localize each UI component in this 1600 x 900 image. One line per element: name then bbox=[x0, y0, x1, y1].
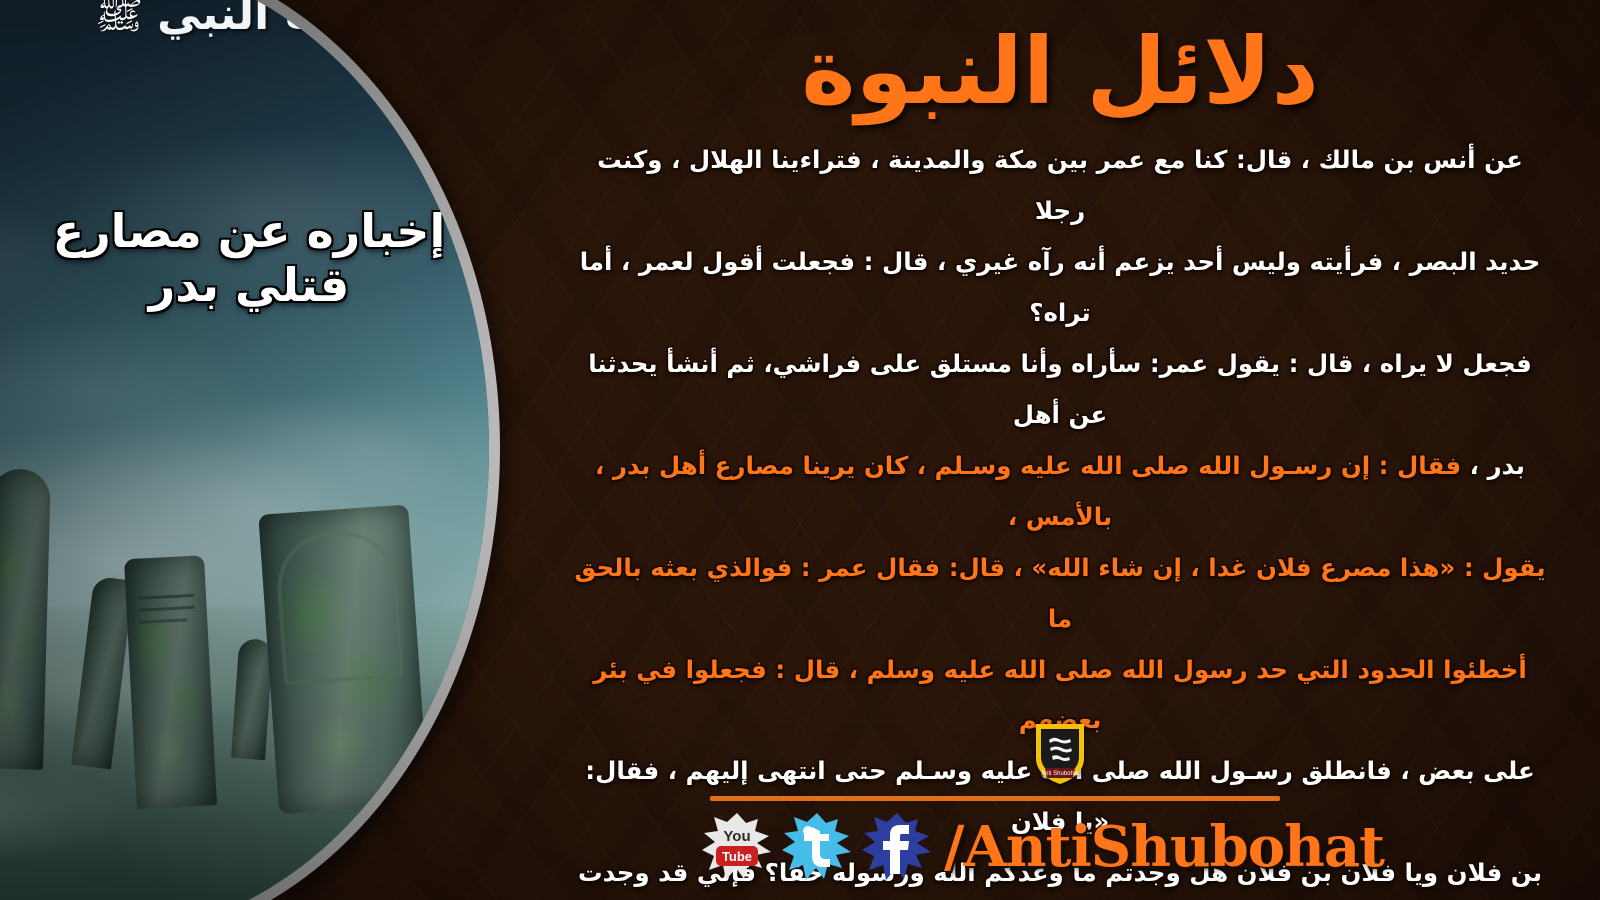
tombstone-box bbox=[258, 504, 429, 814]
social-handle[interactable]: /AntiShubohat bbox=[944, 814, 1384, 880]
twitter-icon[interactable] bbox=[780, 810, 854, 884]
sallallahu-alayhi-wasallam-icon: ﷺ bbox=[95, 0, 143, 35]
episode-title: إخباره عن مصارع قتلي بدر bbox=[29, 204, 469, 312]
tombstone-small-round bbox=[231, 638, 273, 760]
footer-divider bbox=[710, 796, 1280, 801]
hadith-line-highlight: يقول : «هذا مصرع فلان غدا ، إن شاء الله»… bbox=[574, 553, 1545, 633]
youtube-icon[interactable]: You Tube bbox=[700, 810, 774, 884]
svg-text:Tube: Tube bbox=[722, 849, 752, 864]
series-title: معجزات النبي bbox=[157, 0, 455, 40]
shield-icon: Anti Shubohat bbox=[1032, 718, 1088, 786]
tombstone-inscribed bbox=[124, 555, 217, 809]
left-image-panel: معجزات النبي ﷺ إخباره عن مصارع قتلي بدر bbox=[0, 0, 500, 900]
page-title: دلائل النبوة bbox=[520, 14, 1600, 129]
svg-text:You: You bbox=[723, 828, 750, 845]
hadith-line: حديد البصر ، فرأيته وليس أحد يزعم أنه رآ… bbox=[568, 237, 1552, 339]
tombstone-slab-thin bbox=[71, 576, 134, 769]
hadith-line: يقول : «هذا مصرع فلان غدا ، إن شاء الله»… bbox=[568, 543, 1552, 645]
brand-logo[interactable]: Anti Shubohat bbox=[1032, 718, 1088, 786]
hadith-line-highlight: فقال : إن رسـول الله صلى الله عليه وسـلم… bbox=[595, 451, 1461, 531]
series-title-row: معجزات النبي ﷺ bbox=[0, 0, 455, 40]
tombstone-column bbox=[0, 468, 51, 769]
hadith-line: بدر ، فقال : إن رسـول الله صلى الله عليه… bbox=[568, 441, 1552, 543]
facebook-icon[interactable] bbox=[860, 810, 934, 884]
shield-banner-text: Anti Shubohat bbox=[1041, 771, 1079, 777]
hadith-line-plain: بدر ، bbox=[1461, 451, 1525, 480]
hadith-line: عن أنس بن مالك ، قال: كنا مع عمر بين مكة… bbox=[568, 135, 1552, 237]
poster-canvas: معجزات النبي ﷺ إخباره عن مصارع قتلي بدر … bbox=[0, 0, 1600, 900]
graveyard-photo bbox=[0, 0, 489, 900]
misty-ground bbox=[0, 607, 489, 900]
social-links: You Tube /AntiShubohat bbox=[700, 810, 1384, 884]
footer: Anti Shubohat You Tube bbox=[520, 700, 1600, 900]
hadith-line: فجعل لا يراه ، قال : يقول عمر: سأراه وأن… bbox=[568, 339, 1552, 441]
